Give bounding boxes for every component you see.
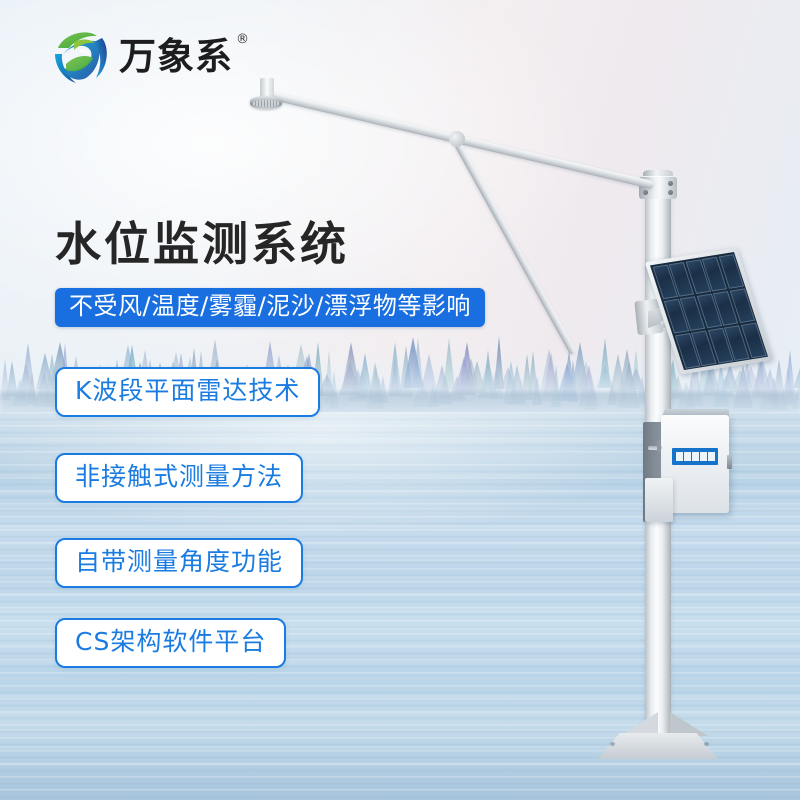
- feature-pill-2[interactable]: 非接触式测量方法: [55, 453, 303, 503]
- feature-pill-1[interactable]: K波段平面雷达技术: [55, 367, 320, 417]
- trademark-symbol: ®: [236, 33, 250, 46]
- globe-swirl-icon: [52, 26, 110, 86]
- feature-pill-4[interactable]: CS架构软件平台: [55, 618, 286, 668]
- subtitle-badge: 不受风/温度/雾霾/泥沙/漂浮物等影响: [55, 288, 485, 327]
- feature-pill-3[interactable]: 自带测量角度功能: [55, 538, 303, 588]
- brand-logo[interactable]: 万象系®: [52, 26, 233, 86]
- page-title: 水位监测系统: [55, 208, 349, 274]
- brand-name: 万象系®: [119, 38, 233, 75]
- product-poster: 万象系® 水位监测系统 不受风/温度/雾霾/泥沙/漂浮物等影响 K波段平面雷达技…: [0, 0, 800, 800]
